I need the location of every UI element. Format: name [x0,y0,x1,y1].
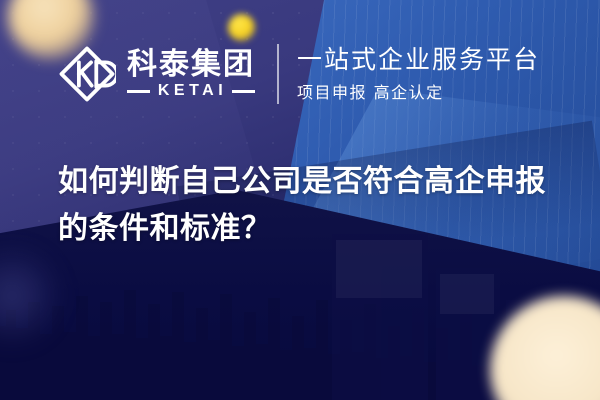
brand-name-en-row: KETAI [127,83,255,99]
slogan-primary: 一站式企业服务平台 [297,45,540,75]
brand-name-en: KETAI [155,83,227,99]
wordmark-rule-left [127,90,150,93]
ketai-diamond-kt-logo-icon [58,45,116,103]
brand-wordmark: 科泰集团 KETAI [127,49,255,99]
slogan-block: 一站式企业服务平台 项目申报 高企认定 [297,45,540,102]
slogan-secondary: 项目申报 高企认定 [297,83,540,102]
header-divider [277,44,279,104]
banner-header: 科泰集团 KETAI 一站式企业服务平台 项目申报 高企认定 [58,38,540,110]
wordmark-rule-right [232,90,255,93]
promo-banner: 科泰集团 KETAI 一站式企业服务平台 项目申报 高企认定 如何判断自己公司是… [0,0,600,400]
headline-text: 如何判断自己公司是否符合高企申报的条件和标准？ [58,158,558,252]
decorative-orb-gold [228,14,255,41]
brand-name-cn: 科泰集团 [127,49,255,80]
